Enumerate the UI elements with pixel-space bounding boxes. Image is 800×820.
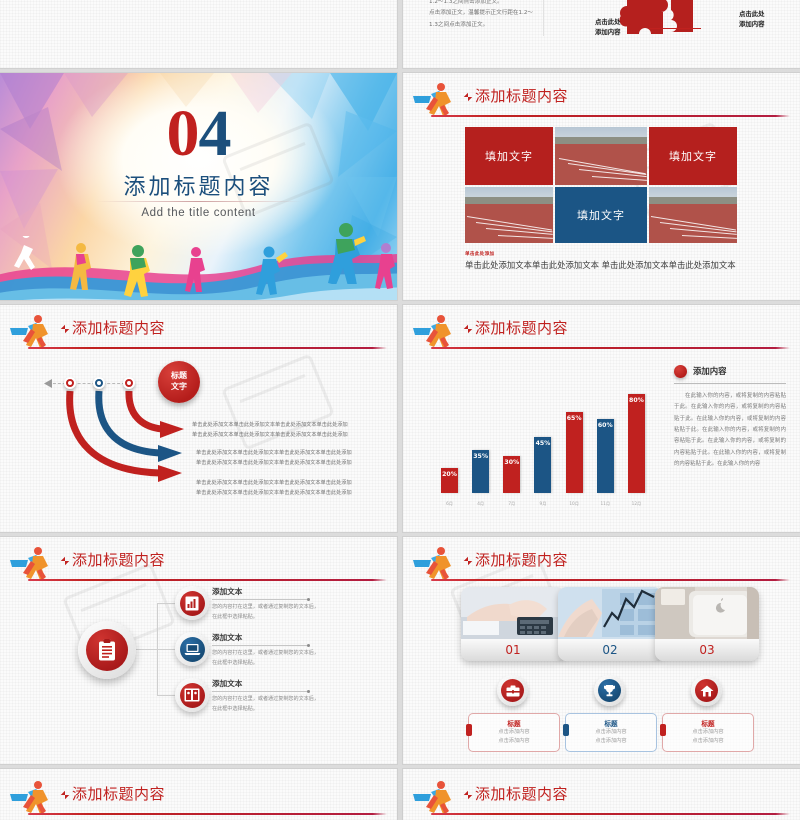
card-caption-line1-3: 点击添加内容 [663, 728, 753, 737]
mosaic-cell-text-2[interactable]: 填加文字 [649, 127, 737, 185]
card-number-1: 01 [461, 639, 565, 661]
timeline-node-1[interactable] [64, 377, 76, 389]
mosaic-caption: 单击此处添加文本单击此处添加文本 单击此处添加文本单击此处添加文本 [465, 259, 770, 271]
x-axis-labels: 6月4月7月9月10月11月12月 [441, 501, 645, 507]
tree-rule-2 [212, 645, 309, 646]
briefcase-icon [501, 679, 524, 702]
x-axis-label-5: 10月 [566, 501, 583, 507]
bar-chart: 20%35%30%45%65%60%80% 6月4月7月9月10月11月12月 [421, 363, 649, 513]
arrow-row-text-1: 单击此处添加文本单击此处添加文本单击此处添加文本单击此处添加单击此处添加文本单击… [192, 421, 352, 440]
mosaic-cell-label-2: 填加文字 [669, 148, 717, 164]
card-caption-title-2: 标题 [566, 718, 656, 728]
mosaic-cell-photo-2[interactable] [465, 187, 553, 243]
slide-background [0, 0, 397, 68]
title-underline [431, 813, 790, 815]
tag-line-1: 标题 [171, 371, 187, 382]
photo-card-3[interactable]: 03 [655, 587, 759, 661]
id-card-icon [180, 683, 205, 708]
bar-6: 60% [597, 419, 614, 493]
tree-rule-1 [212, 599, 309, 600]
arrow-row-text-3: 单击此处添加文本单击此处添加文本单击此处添加文本单击此处添加单击此处添加文本单击… [196, 479, 356, 498]
mosaic-cell-label-1: 填加文字 [485, 148, 533, 164]
mosaic-cell-text-3[interactable]: 填加文字 [555, 187, 647, 243]
slide-footer-partial-1[interactable]: 添加标题内容 [0, 769, 397, 820]
chart-document-icon [180, 591, 205, 616]
bar-7: 80% [628, 394, 645, 493]
card-caption-title-1: 标题 [469, 718, 559, 728]
slide-title: 添加标题内容 [475, 549, 568, 570]
bar-5: 65% [566, 412, 583, 493]
slide-photo-mosaic[interactable]: 添加标题内容 填加文字 填加文字 [403, 73, 800, 300]
chart-side-rule [674, 383, 786, 384]
bar-value-label-5: 65% [566, 415, 583, 422]
runner-icon [411, 313, 457, 349]
tree-leaf-3[interactable] [175, 678, 209, 712]
bar-rect-7: 80% [628, 394, 645, 493]
bar-value-label-3: 30% [503, 459, 520, 466]
slide-puzzle-partial[interactable]: 单击此处添加正文，温馨提示正文行距在1.2～1.3之间点击添加正文。 点击添加正… [403, 0, 800, 68]
bar-2: 35% [472, 450, 489, 493]
slide-tree-diagram[interactable]: 添加标题内容 [0, 537, 397, 764]
bar-3: 30% [503, 456, 520, 493]
slide-circles-partial[interactable]: 制的内容粘贴于此。在此输入你的内容，或将复制的内容粘贴于此。在此输入你的内容，或… [0, 0, 397, 68]
title-underline [431, 347, 790, 349]
tree-heading-1: 添加文本 [212, 586, 242, 597]
bar-rect-2: 35% [472, 450, 489, 493]
x-axis-label-6: 11月 [597, 501, 614, 507]
puzzle-label-right: 点击此处 添加内容 [739, 10, 765, 29]
card-caption-line2-3: 点击添加内容 [663, 737, 753, 746]
mosaic-sub-label: 单击此处添加 [465, 251, 494, 257]
card-caption-line1-1: 点击添加内容 [469, 728, 559, 737]
section-divider-rule [96, 201, 301, 202]
divider-line [543, 0, 544, 36]
slide-gallery: 制的内容粘贴于此。在此输入你的内容，或将复制的内容粘贴于此。在此输入你的内容，或… [0, 0, 800, 800]
card-badge-1[interactable] [497, 675, 528, 706]
pin-marker-icon [563, 724, 569, 736]
tree-leaf-2[interactable] [175, 632, 209, 666]
tree-connector-1 [157, 603, 175, 604]
title-underline [28, 579, 387, 581]
mosaic-cell-label-3: 填加文字 [577, 207, 625, 223]
runner-icon [411, 81, 457, 117]
x-axis-label-1: 6月 [441, 501, 458, 507]
tree-heading-2: 添加文本 [212, 632, 242, 643]
bar-series: 20%35%30%45%65%60%80% [441, 367, 645, 493]
timeline-node-2[interactable] [93, 377, 105, 389]
mosaic-cell-photo-1[interactable] [555, 127, 647, 185]
tree-connector-3 [157, 695, 175, 696]
title-underline [28, 813, 387, 815]
card-caption-3[interactable]: 标题 点击添加内容 点击添加内容 [662, 713, 754, 752]
card-number-2: 02 [558, 639, 662, 661]
title-underline [431, 115, 790, 117]
section-number-first: 0 [167, 97, 199, 170]
card-caption-2[interactable]: 标题 点击添加内容 点击添加内容 [565, 713, 657, 752]
slide-title: 添加标题内容 [72, 783, 165, 804]
chart-side-heading: 添加内容 [693, 365, 727, 377]
title-bullet-icon [464, 557, 472, 565]
bar-value-label-2: 35% [472, 453, 489, 460]
card-badge-3[interactable] [691, 675, 722, 706]
runner-icon [8, 545, 54, 581]
x-axis-label-3: 7月 [503, 501, 520, 507]
bar-rect-3: 30% [503, 456, 520, 493]
card-caption-1[interactable]: 标题 点击添加内容 点击添加内容 [468, 713, 560, 752]
slide-footer-partial-2[interactable]: 添加标题内容 [403, 769, 800, 820]
slide-header: 添加标题内容 [403, 781, 790, 815]
runner-icon [411, 779, 457, 815]
title-bullet-icon [464, 325, 472, 333]
section-number-second: 4 [199, 97, 231, 170]
slide-header: 添加标题内容 [403, 547, 790, 581]
clipboard-icon [86, 629, 128, 671]
bar-value-label-7: 80% [628, 397, 645, 404]
athlete-silhouette-6 [320, 222, 368, 284]
bar-value-label-6: 60% [597, 422, 614, 429]
bar-rect-1: 20% [441, 468, 458, 493]
divider-background: 04 添加标题内容 Add the title content [0, 73, 397, 300]
home-icon [695, 679, 718, 702]
laptop-icon [180, 637, 205, 662]
tree-connector-2 [157, 649, 175, 650]
trophy-icon [598, 679, 621, 702]
chart-side-body: 在此输入你的内容，或将复制的内容粘贴于此。在此输入你的内容，或将复制的内容粘贴于… [674, 391, 786, 470]
bullet-dot-icon [674, 365, 687, 378]
title-underline [431, 579, 790, 581]
title-bullet-icon [61, 557, 69, 565]
runner-icon [411, 545, 457, 581]
section-title: 添加标题内容 [0, 169, 397, 201]
tree-body-3: 您的内容打在这里，或者通过复制您的文本后，在此框中选择粘贴。 [212, 695, 324, 715]
tree-heading-3: 添加文本 [212, 678, 242, 689]
phone-desk-photo [655, 587, 759, 639]
slide-header: 添加标题内容 [403, 83, 790, 117]
arrow-left-icon [44, 379, 53, 388]
mosaic-grid: 填加文字 填加文字 填加文字 [465, 127, 737, 243]
bar-1: 20% [441, 468, 458, 493]
slide-three-cards[interactable]: 添加标题内容 [403, 537, 800, 764]
puzzle-label-left: 点击此处 添加内容 [595, 18, 621, 37]
slide-header: 添加标题内容 [0, 781, 387, 815]
card-caption-line2-1: 点击添加内容 [469, 737, 559, 746]
bar-rect-6: 60% [597, 419, 614, 493]
bar-4: 45% [534, 437, 551, 493]
pin-marker-icon [466, 724, 472, 736]
athlete-silhouette-1 [12, 236, 46, 282]
slide-title: 添加标题内容 [475, 85, 568, 106]
chart-screen-photo [558, 587, 662, 639]
arrow-row-text-2: 单击此处添加文本单击此处添加文本单击此处添加文本单击此处添加单击此处添加文本单击… [196, 449, 356, 468]
tag-circle[interactable]: 标题 文字 [158, 361, 200, 403]
title-bullet-icon [464, 93, 472, 101]
puzzle-leader-line [649, 28, 701, 29]
athlete-silhouette-5 [252, 246, 288, 296]
timeline-node-3[interactable] [123, 377, 135, 389]
card-caption-title-3: 标题 [663, 718, 753, 728]
x-axis-label-7: 12月 [628, 501, 645, 507]
tree-hub[interactable] [78, 621, 136, 679]
slide-title: 添加标题内容 [475, 317, 568, 338]
bar-rect-4: 45% [534, 437, 551, 493]
x-axis-label-2: 4月 [472, 501, 489, 507]
tag-line-2: 文字 [171, 382, 187, 393]
athlete-silhouette-7 [372, 242, 397, 290]
photo-card-1[interactable]: 01 [461, 587, 565, 661]
mosaic-cell-text-1[interactable]: 填加文字 [465, 127, 553, 185]
athlete-silhouette-4 [182, 246, 212, 294]
slide-title: 添加标题内容 [72, 549, 165, 570]
tree-leaf-1[interactable] [175, 586, 209, 620]
bar-value-label-1: 20% [441, 471, 458, 478]
tree-connector-trunk [136, 649, 158, 650]
card-number-3: 03 [655, 639, 759, 661]
puzzle-body-text: 单击此处添加正文，温馨提示正文行距在1.2～1.3之间点击添加正文。 点击添加正… [429, 0, 537, 31]
card-badge-2[interactable] [594, 675, 625, 706]
photo-card-2[interactable]: 02 [558, 587, 662, 661]
x-axis-label-4: 9月 [534, 501, 551, 507]
title-bullet-icon [464, 791, 472, 799]
tree-body-1: 您的内容打在这里，或者通过复制您的文本后，在此框中选择粘贴。 [212, 603, 324, 623]
section-subtitle: Add the title content [0, 207, 397, 219]
athlete-silhouette-2 [66, 242, 100, 292]
runner-icon [8, 779, 54, 815]
pin-marker-icon [660, 724, 666, 736]
bar-rect-5: 65% [566, 412, 583, 493]
dashed-connector [48, 383, 130, 384]
tree-body-2: 您的内容打在这里，或者通过复制您的文本后，在此框中选择粘贴。 [212, 649, 324, 669]
slide-header: 添加标题内容 [0, 547, 387, 581]
title-bullet-icon [61, 791, 69, 799]
slide-header: 添加标题内容 [403, 315, 790, 349]
tree-rule-3 [212, 691, 309, 692]
card-caption-line1-2: 点击添加内容 [566, 728, 656, 737]
slide-title: 添加标题内容 [475, 783, 568, 804]
slide-curved-arrows[interactable]: 添加标题内容 标题 文字 单击此处添加文本单击此处添加文本单击此处添加文本单击此… [0, 305, 397, 532]
athlete-silhouette-3 [118, 244, 158, 298]
slide-section-divider[interactable]: 04 添加标题内容 Add the title content [0, 73, 397, 300]
mosaic-cell-photo-3[interactable] [649, 187, 737, 243]
section-number: 04 [0, 101, 397, 167]
slide-bar-chart[interactable]: 添加标题内容 20%35%30%45%65%60%80% 6月4月7月9月10月… [403, 305, 800, 532]
card-caption-line2-2: 点击添加内容 [566, 737, 656, 746]
calculator-hands-photo [461, 587, 565, 639]
bar-value-label-4: 45% [534, 440, 551, 447]
